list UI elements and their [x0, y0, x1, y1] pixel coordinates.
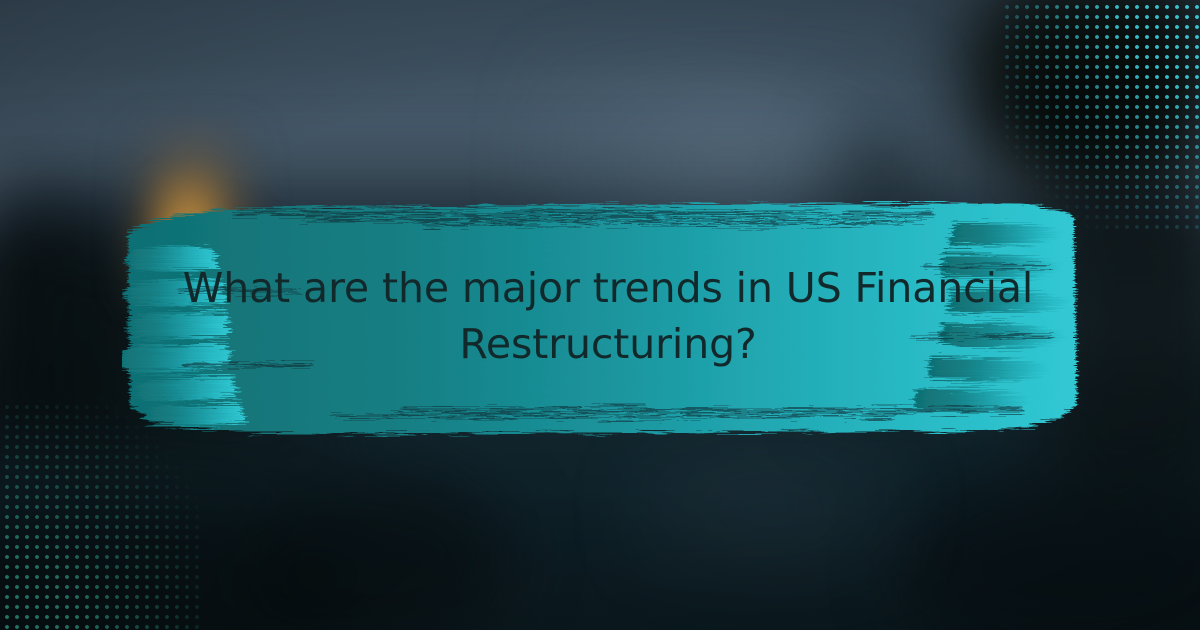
silhouette-left-tower [0, 215, 135, 455]
cool-water-highlight [620, 430, 920, 590]
silhouette-right-foliage-2 [1020, 40, 1200, 190]
headline-text: What are the major trends in US Financia… [122, 193, 1080, 439]
silhouette-right-foliage [965, 0, 1200, 195]
silhouette-bottom-left [0, 500, 360, 630]
silhouette-center-foreground [250, 470, 510, 630]
share-card-canvas: What are the major trends in US Financia… [0, 0, 1200, 630]
silhouette-bottom-right [900, 470, 1200, 630]
